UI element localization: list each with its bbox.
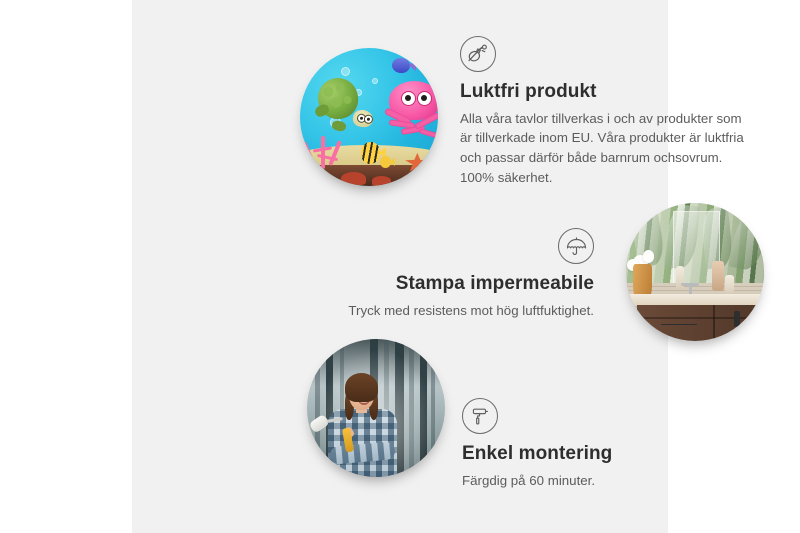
bubble-icon — [372, 78, 378, 84]
soap-bottle — [712, 261, 724, 291]
feature-title: Enkel montering — [462, 443, 712, 466]
wood-vanity-cabinet — [637, 305, 764, 341]
paint-roller-icon — [462, 398, 498, 434]
feature-easy-installation: Enkel montering Färgdig på 60 minuter. — [462, 398, 712, 490]
umbrella-icon — [558, 228, 594, 264]
rock-icon — [341, 172, 366, 184]
bathroom-scene — [626, 203, 764, 341]
coral-icon — [303, 128, 350, 169]
feature-title: Stampa impermeabile — [322, 273, 594, 296]
no-odour-spray-bottle-icon — [460, 36, 496, 72]
underwater-scene — [300, 48, 438, 186]
feature-waterproof-print: Stampa impermeabile Tryck med resistens … — [322, 228, 594, 320]
feature-title: Luktfri produkt — [460, 81, 756, 104]
woman-with-roller — [318, 367, 404, 477]
underwater-kids-mural-photo — [300, 48, 438, 186]
feature-description: Färgdig på 60 minuter. — [462, 471, 712, 491]
small-yellow-fish-icon — [380, 156, 395, 168]
soap-bottle — [725, 275, 733, 294]
forest-scene — [307, 339, 445, 477]
rock-icon — [372, 176, 391, 186]
bathroom-tropical-mural-photo — [626, 203, 764, 341]
feature-description: Alla våra tavlor tillverkas i och av pro… — [460, 109, 756, 188]
bubble-icon — [341, 67, 350, 76]
blue-fish-icon — [392, 58, 415, 73]
feature-odourless-product: Luktfri produkt Alla våra tavlor tillver… — [460, 36, 756, 187]
product-feature-infographic: Luktfri produkt Alla våra tavlor tillver… — [0, 0, 800, 533]
woman-paint-roller-forest-mural-photo — [307, 339, 445, 477]
content-panel: Luktfri produkt Alla våra tavlor tillver… — [132, 0, 668, 533]
sea-turtle-icon — [315, 78, 370, 128]
octopus-icon — [383, 81, 438, 142]
feature-description: Tryck med resistens mot hög luftfuktighe… — [322, 301, 594, 321]
